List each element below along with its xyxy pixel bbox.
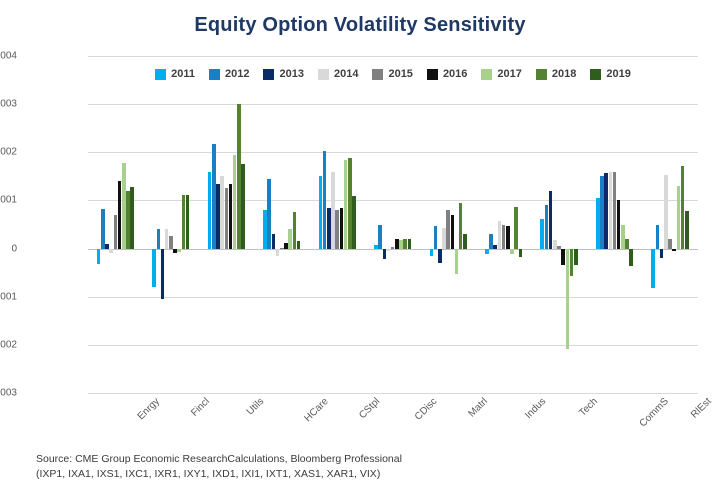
legend-swatch-icon (263, 69, 274, 80)
bar-Indus-2012[interactable] (489, 234, 493, 248)
bar-Tech-2019[interactable] (574, 249, 578, 266)
bar-Utils-2011[interactable] (208, 172, 212, 249)
legend-item-2012[interactable]: 2012 (209, 68, 249, 80)
bar-Tech-2013[interactable] (549, 191, 553, 249)
bar-group-CStpl (310, 56, 365, 393)
bar-CStpl-2015[interactable] (335, 210, 339, 249)
bar-CStpl-2011[interactable] (319, 176, 323, 248)
bar-RlEst-2013[interactable] (660, 249, 664, 259)
bar-Matrl-2015[interactable] (446, 210, 450, 249)
y-tick-label: 0.002 (0, 147, 17, 158)
legend-label: 2016 (443, 68, 467, 80)
bar-CommS-2017[interactable] (621, 225, 625, 248)
bar-Matrl-2014[interactable] (442, 228, 446, 248)
y-tick-label: -0.002 (0, 339, 17, 350)
bar-group-HCare (254, 56, 309, 393)
bar-CDisc-2013[interactable] (383, 249, 387, 259)
x-tick-label-CDisc: CDisc (413, 396, 440, 423)
bar-CommS-2016[interactable] (617, 200, 621, 248)
bar-Fincl-2014[interactable] (165, 229, 169, 248)
bar-Matrl-2011[interactable] (430, 249, 434, 257)
bar-RlEst-2011[interactable] (651, 249, 655, 288)
bar-RlEst-2012[interactable] (656, 225, 660, 249)
legend-swatch-icon (427, 69, 438, 80)
bar-CommS-2012[interactable] (600, 176, 604, 248)
source-note: Source: CME Group Economic ResearchCalcu… (36, 452, 656, 482)
bar-Enrgy-2019[interactable] (130, 187, 134, 249)
legend-item-2018[interactable]: 2018 (536, 68, 576, 80)
bar-CDisc-2012[interactable] (378, 225, 382, 249)
y-tick-label: 0.001 (0, 195, 17, 206)
bar-CStpl-2018[interactable] (348, 158, 352, 249)
bar-Utils-2015[interactable] (225, 188, 229, 248)
legend-swatch-icon (536, 69, 547, 80)
bar-group-Enrgy (88, 56, 143, 393)
legend-swatch-icon (590, 69, 601, 80)
page-title: Equity Option Volatility Sensitivity (0, 14, 720, 37)
bar-Fincl-2016[interactable] (173, 249, 177, 254)
legend-swatch-icon (481, 69, 492, 80)
bar-Tech-2017[interactable] (566, 249, 570, 349)
bar-Fincl-2011[interactable] (152, 249, 156, 288)
bar-Indus-2011[interactable] (485, 249, 489, 255)
bar-Tech-2012[interactable] (545, 205, 549, 248)
bar-Fincl-2015[interactable] (169, 236, 173, 249)
x-tick-label-CommS: CommS (637, 396, 670, 429)
bar-HCare-2012[interactable] (267, 179, 271, 249)
bar-group-Indus (476, 56, 531, 393)
bar-CDisc-2017[interactable] (399, 240, 403, 249)
bar-group-Utils (199, 56, 254, 393)
legend-label: 2012 (225, 68, 249, 80)
bar-CStpl-2012[interactable] (323, 151, 327, 248)
bar-HCare-2011[interactable] (263, 210, 267, 249)
x-tick-label-CStpl: CStpl (357, 396, 382, 421)
legend-swatch-icon (209, 69, 220, 80)
bar-CommS-2014[interactable] (609, 172, 613, 249)
bar-CStpl-2017[interactable] (344, 160, 348, 249)
bar-Fincl-2013[interactable] (161, 249, 165, 300)
bar-CommS-2018[interactable] (625, 239, 629, 249)
x-tick-label-Tech: Tech (578, 396, 601, 419)
legend-label: 2015 (388, 68, 412, 80)
bar-Fincl-2012[interactable] (157, 229, 161, 248)
bar-Tech-2011[interactable] (540, 219, 544, 249)
bar-Indus-2019[interactable] (519, 249, 523, 258)
bar-CDisc-2016[interactable] (395, 239, 399, 249)
bar-Utils-2016[interactable] (229, 184, 233, 249)
x-tick-label-RlEst: RlEst (689, 396, 714, 421)
bar-RlEst-2016[interactable] (672, 249, 676, 252)
bar-Tech-2018[interactable] (570, 249, 574, 277)
legend-label: 2014 (334, 68, 358, 80)
legend-swatch-icon (372, 69, 383, 80)
bar-Fincl-2017[interactable] (177, 249, 181, 253)
bar-Indus-2014[interactable] (498, 221, 502, 249)
legend-item-2013[interactable]: 2013 (263, 68, 303, 80)
bar-Enrgy-2013[interactable] (105, 244, 109, 249)
bar-Enrgy-2014[interactable] (109, 249, 113, 254)
bar-Matrl-2018[interactable] (459, 203, 463, 248)
x-axis-tick-labels: EnrgyFinclUtilsHCareCStplCDiscMatrlIndus… (88, 396, 698, 456)
bar-CDisc-2015[interactable] (391, 247, 395, 249)
bar-group-Fincl (143, 56, 198, 393)
bar-Fincl-2018[interactable] (182, 195, 186, 249)
bar-RlEst-2015[interactable] (668, 239, 672, 249)
bar-Indus-2015[interactable] (502, 225, 506, 249)
bar-Fincl-2019[interactable] (186, 195, 190, 249)
legend-item-2016[interactable]: 2016 (427, 68, 467, 80)
bar-HCare-2014[interactable] (276, 249, 280, 256)
bar-Matrl-2016[interactable] (451, 215, 455, 249)
bar-CDisc-2014[interactable] (387, 249, 391, 251)
bar-HCare-2019[interactable] (297, 241, 301, 248)
bar-HCare-2016[interactable] (284, 243, 288, 249)
bar-CDisc-2011[interactable] (374, 245, 378, 249)
bar-group-RlEst (643, 56, 698, 393)
bar-Utils-2014[interactable] (220, 176, 224, 248)
bar-group-Matrl (421, 56, 476, 393)
legend-item-2011[interactable]: 2011 (155, 68, 195, 80)
bar-group-CDisc (365, 56, 420, 393)
bar-Utils-2013[interactable] (216, 184, 220, 249)
x-tick-label-HCare: HCare (303, 396, 331, 424)
legend-item-2019[interactable]: 2019 (590, 68, 630, 80)
bar-CDisc-2019[interactable] (408, 239, 412, 249)
bar-Enrgy-2017[interactable] (122, 163, 126, 249)
bar-CStpl-2019[interactable] (352, 196, 356, 249)
bar-Enrgy-2012[interactable] (101, 209, 105, 248)
legend-label: 2018 (552, 68, 576, 80)
legend: 201120122013201420152016201720182019 (88, 68, 698, 80)
x-tick-label-Fincl: Fincl (189, 396, 212, 419)
bar-Enrgy-2018[interactable] (126, 191, 130, 249)
bar-RlEst-2014[interactable] (664, 175, 668, 248)
x-tick-label-Enrgy: Enrgy (135, 396, 161, 422)
bar-Utils-2017[interactable] (233, 155, 237, 249)
bar-CStpl-2013[interactable] (327, 208, 331, 249)
bar-group-Tech (532, 56, 587, 393)
bar-Utils-2018[interactable] (237, 104, 241, 248)
y-tick-label: 0.003 (0, 99, 17, 110)
source-line-2: (IXP1, IXA1, IXS1, IXC1, IXR1, IXY1, IXD… (36, 467, 656, 482)
bar-groups (88, 56, 698, 393)
x-tick-label-Indus: Indus (523, 396, 548, 421)
bar-Indus-2013[interactable] (493, 245, 497, 249)
bar-Enrgy-2011[interactable] (97, 249, 101, 264)
bar-Matrl-2017[interactable] (455, 249, 459, 274)
bar-RlEst-2019[interactable] (685, 211, 689, 249)
bar-HCare-2018[interactable] (293, 212, 297, 249)
bar-Matrl-2019[interactable] (463, 234, 467, 248)
legend-label: 2011 (171, 68, 195, 80)
legend-item-2015[interactable]: 2015 (372, 68, 412, 80)
bar-group-CommS (587, 56, 642, 393)
bar-CommS-2011[interactable] (596, 198, 600, 249)
bar-Matrl-2012[interactable] (434, 226, 438, 248)
bar-Tech-2016[interactable] (561, 249, 565, 266)
bar-Utils-2012[interactable] (212, 144, 216, 249)
gridline (88, 393, 698, 394)
legend-label: 2013 (279, 68, 303, 80)
legend-swatch-icon (155, 69, 166, 80)
legend-item-2017[interactable]: 2017 (481, 68, 521, 80)
x-tick-label-Matrl: Matrl (467, 396, 491, 420)
bar-HCare-2017[interactable] (288, 229, 292, 248)
bar-Tech-2014[interactable] (553, 240, 557, 249)
bar-CommS-2019[interactable] (629, 249, 633, 266)
y-tick-label: -0.003 (0, 388, 17, 399)
bar-HCare-2015[interactable] (280, 248, 284, 249)
bar-Utils-2019[interactable] (241, 164, 245, 248)
bar-Tech-2015[interactable] (557, 246, 561, 249)
bar-CStpl-2016[interactable] (340, 208, 344, 249)
bar-Indus-2018[interactable] (514, 207, 518, 248)
bar-Indus-2016[interactable] (506, 226, 510, 248)
bar-Enrgy-2015[interactable] (114, 215, 118, 249)
bar-CommS-2015[interactable] (613, 172, 617, 249)
y-tick-label: 0 (0, 243, 17, 254)
y-tick-label: -0.001 (0, 291, 17, 302)
bar-RlEst-2017[interactable] (677, 186, 681, 249)
y-tick-label: 0.004 (0, 51, 17, 62)
legend-swatch-icon (318, 69, 329, 80)
bar-Enrgy-2016[interactable] (118, 181, 122, 248)
bar-CDisc-2018[interactable] (403, 239, 407, 249)
x-tick-label-Utils: Utils (244, 396, 266, 418)
legend-label: 2019 (606, 68, 630, 80)
bar-Indus-2017[interactable] (510, 249, 514, 255)
bar-HCare-2013[interactable] (272, 234, 276, 248)
source-line-1: Source: CME Group Economic ResearchCalcu… (36, 452, 656, 467)
chart-root: Equity Option Volatility Sensitivity Bet… (0, 0, 720, 500)
plot-area (88, 56, 698, 393)
bar-Matrl-2013[interactable] (438, 249, 442, 263)
bar-CStpl-2014[interactable] (331, 172, 335, 249)
legend-label: 2017 (497, 68, 521, 80)
legend-item-2014[interactable]: 2014 (318, 68, 358, 80)
bar-RlEst-2018[interactable] (681, 166, 685, 249)
bar-CommS-2013[interactable] (604, 173, 608, 249)
